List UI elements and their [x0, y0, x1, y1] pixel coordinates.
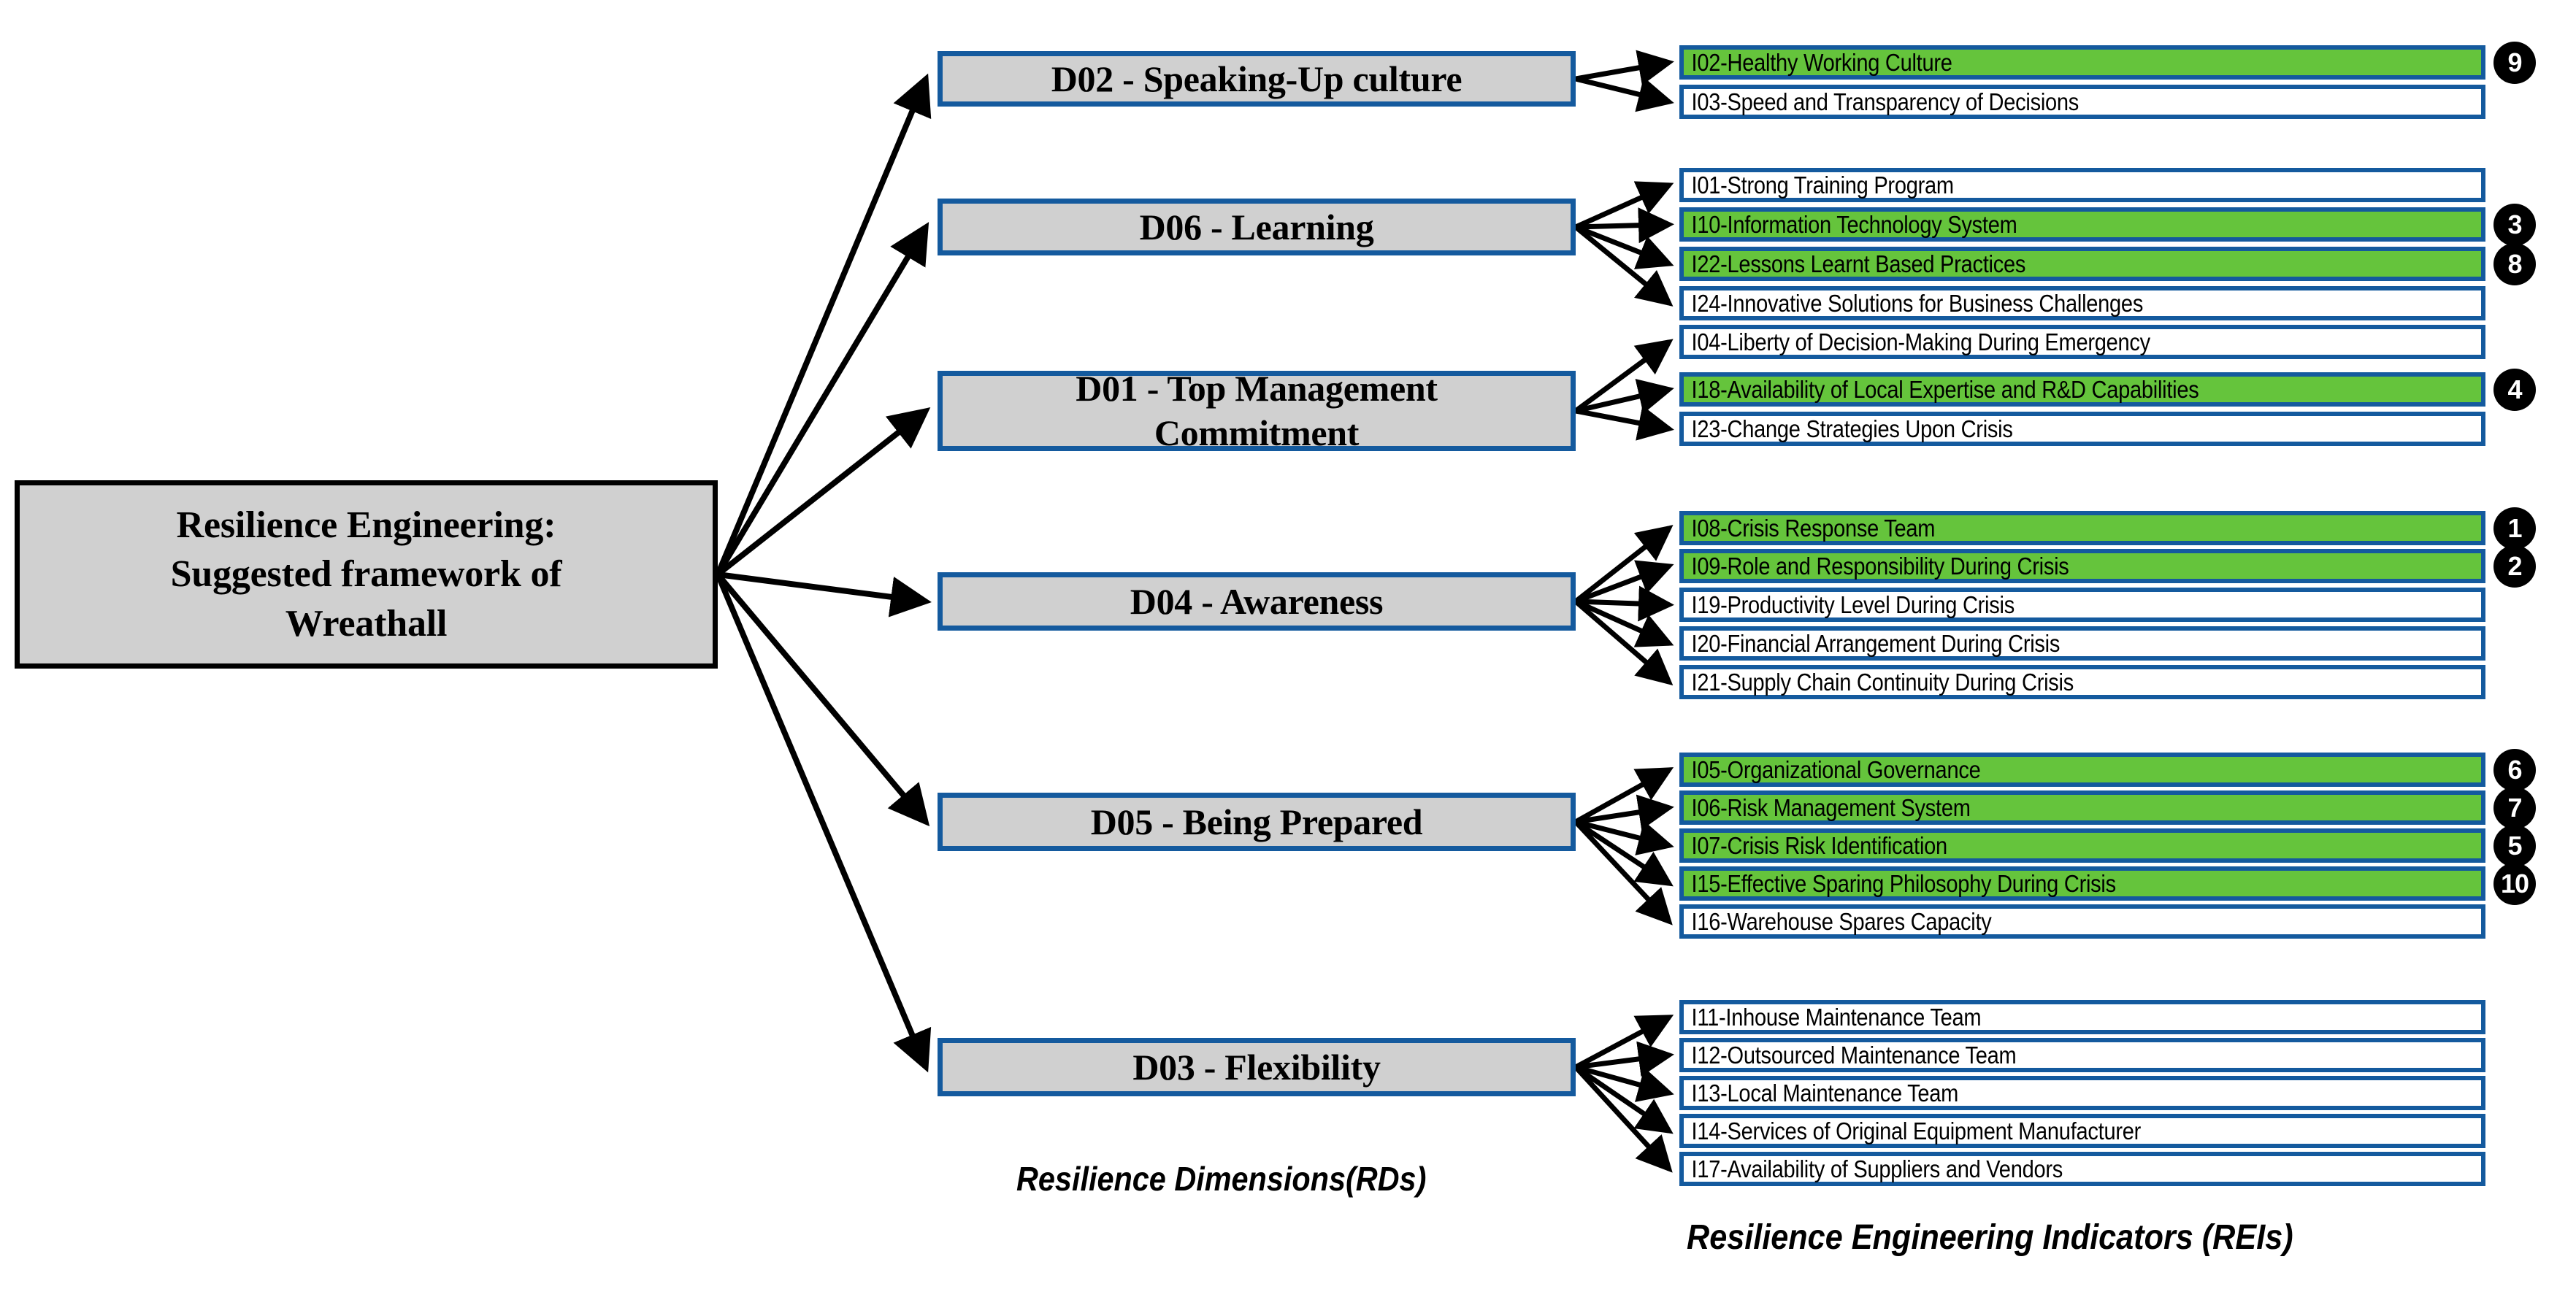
indicator-node-label: I19-Productivity Level During Crisis: [1684, 593, 2015, 617]
indicator-node-i24[interactable]: I24-Innovative Solutions for Business Ch…: [1679, 286, 2485, 320]
indicator-node-i10[interactable]: I10-Information Technology System: [1679, 207, 2485, 242]
indicator-node-i06[interactable]: I06-Risk Management System: [1679, 790, 2485, 825]
dimension-node-d04[interactable]: D04 - Awareness: [938, 572, 1576, 631]
rank-badge-i22: 8: [2493, 243, 2536, 285]
indicator-node-i07[interactable]: I07-Crisis Risk Identification: [1679, 828, 2485, 863]
indicators-caption: Resilience Engineering Indicators (REIs): [1687, 1217, 2293, 1258]
indicator-node-label: I23-Change Strategies Upon Crisis: [1684, 417, 2013, 441]
indicator-node-i05[interactable]: I05-Organizational Governance: [1679, 753, 2485, 787]
indicator-node-label: I05-Organizational Governance: [1684, 758, 1980, 782]
rank-badge-i06: 7: [2493, 787, 2536, 829]
indicator-node-i08[interactable]: I08-Crisis Response Team: [1679, 511, 2485, 545]
indicator-node-i11[interactable]: I11-Inhouse Maintenance Team: [1679, 1000, 2485, 1034]
dimension-node-d02[interactable]: D02 - Speaking-Up culture: [938, 51, 1576, 107]
indicator-node-label: I16-Warehouse Spares Capacity: [1684, 909, 1992, 934]
indicator-node-i20[interactable]: I20-Financial Arrangement During Crisis: [1679, 626, 2485, 661]
dimension-node-d01[interactable]: D01 - Top Management Commitment: [938, 371, 1576, 451]
indicator-node-label: I01-Strong Training Program: [1684, 173, 1954, 197]
indicator-node-label: I13-Local Maintenance Team: [1684, 1081, 1958, 1105]
dimension-node-label: D03 - Flexibility: [1132, 1045, 1380, 1090]
indicator-node-label: I06-Risk Management System: [1684, 796, 1971, 820]
indicator-node-label: I20-Financial Arrangement During Crisis: [1684, 631, 2060, 655]
indicator-node-i16[interactable]: I16-Warehouse Spares Capacity: [1679, 904, 2485, 939]
indicator-node-label: I18-Availability of Local Expertise and …: [1684, 377, 2199, 401]
rank-badge-i09: 2: [2493, 545, 2536, 588]
dimension-node-label: D04 - Awareness: [1130, 580, 1383, 624]
indicator-node-label: I08-Crisis Response Team: [1684, 516, 1935, 540]
indicator-node-label: I15-Effective Sparing Philosophy During …: [1684, 871, 2116, 896]
indicator-node-label: I03-Speed and Transparency of Decisions: [1684, 90, 2079, 114]
rank-badge-i05: 6: [2493, 749, 2536, 791]
indicator-node-label: I22-Lessons Learnt Based Practices: [1684, 252, 2025, 276]
indicator-node-i23[interactable]: I23-Change Strategies Upon Crisis: [1679, 412, 2485, 446]
dimension-node-d06[interactable]: D06 - Learning: [938, 199, 1576, 255]
dimension-node-label: D01 - Top Management Commitment: [1076, 366, 1437, 455]
indicator-node-i09[interactable]: I09-Role and Responsibility During Crisi…: [1679, 549, 2485, 583]
indicator-node-i18[interactable]: I18-Availability of Local Expertise and …: [1679, 372, 2485, 407]
indicator-node-i13[interactable]: I13-Local Maintenance Team: [1679, 1076, 2485, 1110]
indicator-node-i01[interactable]: I01-Strong Training Program: [1679, 168, 2485, 202]
dimensions-caption: Resilience Dimensions(RDs): [1016, 1159, 1426, 1198]
indicator-node-label: I02-Healthy Working Culture: [1684, 50, 1952, 74]
indicator-node-label: I17-Availability of Suppliers and Vendor…: [1684, 1157, 2063, 1181]
indicator-node-label: I14-Services of Original Equipment Manuf…: [1684, 1119, 2141, 1143]
dimension-node-label: D05 - Being Prepared: [1091, 800, 1423, 844]
dimension-node-d05[interactable]: D05 - Being Prepared: [938, 793, 1576, 851]
indicator-node-i04[interactable]: I04-Liberty of Decision-Making During Em…: [1679, 325, 2485, 359]
indicator-node-label: I11-Inhouse Maintenance Team: [1684, 1005, 1981, 1029]
indicator-node-i03[interactable]: I03-Speed and Transparency of Decisions: [1679, 85, 2485, 119]
indicator-node-label: I07-Crisis Risk Identification: [1684, 834, 1947, 858]
dimension-node-label: D06 - Learning: [1140, 205, 1374, 250]
indicator-node-i14[interactable]: I14-Services of Original Equipment Manuf…: [1679, 1114, 2485, 1148]
indicator-node-i17[interactable]: I17-Availability of Suppliers and Vendor…: [1679, 1152, 2485, 1186]
dimension-to-indicator-edges: [1576, 63, 1669, 1169]
rank-badge-i07: 5: [2493, 825, 2536, 867]
indicator-node-i19[interactable]: I19-Productivity Level During Crisis: [1679, 588, 2485, 622]
rank-badge-i18: 4: [2493, 369, 2536, 411]
indicator-node-label: I04-Liberty of Decision-Making During Em…: [1684, 330, 2150, 354]
rank-badge-i15: 10: [2493, 863, 2536, 905]
indicator-node-i02[interactable]: I02-Healthy Working Culture: [1679, 45, 2485, 80]
indicator-node-i22[interactable]: I22-Lessons Learnt Based Practices: [1679, 247, 2485, 281]
indicator-node-label: I24-Innovative Solutions for Business Ch…: [1684, 291, 2143, 315]
indicator-node-label: I10-Information Technology System: [1684, 212, 2017, 236]
indicator-node-label: I09-Role and Responsibility During Crisi…: [1684, 554, 2069, 578]
indicator-node-i15[interactable]: I15-Effective Sparing Philosophy During …: [1679, 866, 2485, 901]
root-to-dimension-edges: [718, 79, 926, 1067]
indicator-node-i21[interactable]: I21-Supply Chain Continuity During Crisi…: [1679, 665, 2485, 699]
rank-badge-i10: 3: [2493, 204, 2536, 246]
indicator-node-label: I12-Outsourced Maintenance Team: [1684, 1043, 2016, 1067]
dimension-node-d03[interactable]: D03 - Flexibility: [938, 1038, 1576, 1096]
rank-badge-i02: 9: [2493, 42, 2536, 84]
dimension-node-label: D02 - Speaking-Up culture: [1051, 57, 1462, 101]
indicator-node-i12[interactable]: I12-Outsourced Maintenance Team: [1679, 1038, 2485, 1072]
root-node[interactable]: Resilience Engineering: Suggested framew…: [15, 480, 718, 669]
root-node-label: Resilience Engineering: Suggested framew…: [171, 501, 562, 649]
rank-badge-i08: 1: [2493, 507, 2536, 550]
diagram-canvas: Resilience Engineering: Suggested framew…: [0, 0, 2576, 1289]
indicator-node-label: I21-Supply Chain Continuity During Crisi…: [1684, 670, 2074, 694]
